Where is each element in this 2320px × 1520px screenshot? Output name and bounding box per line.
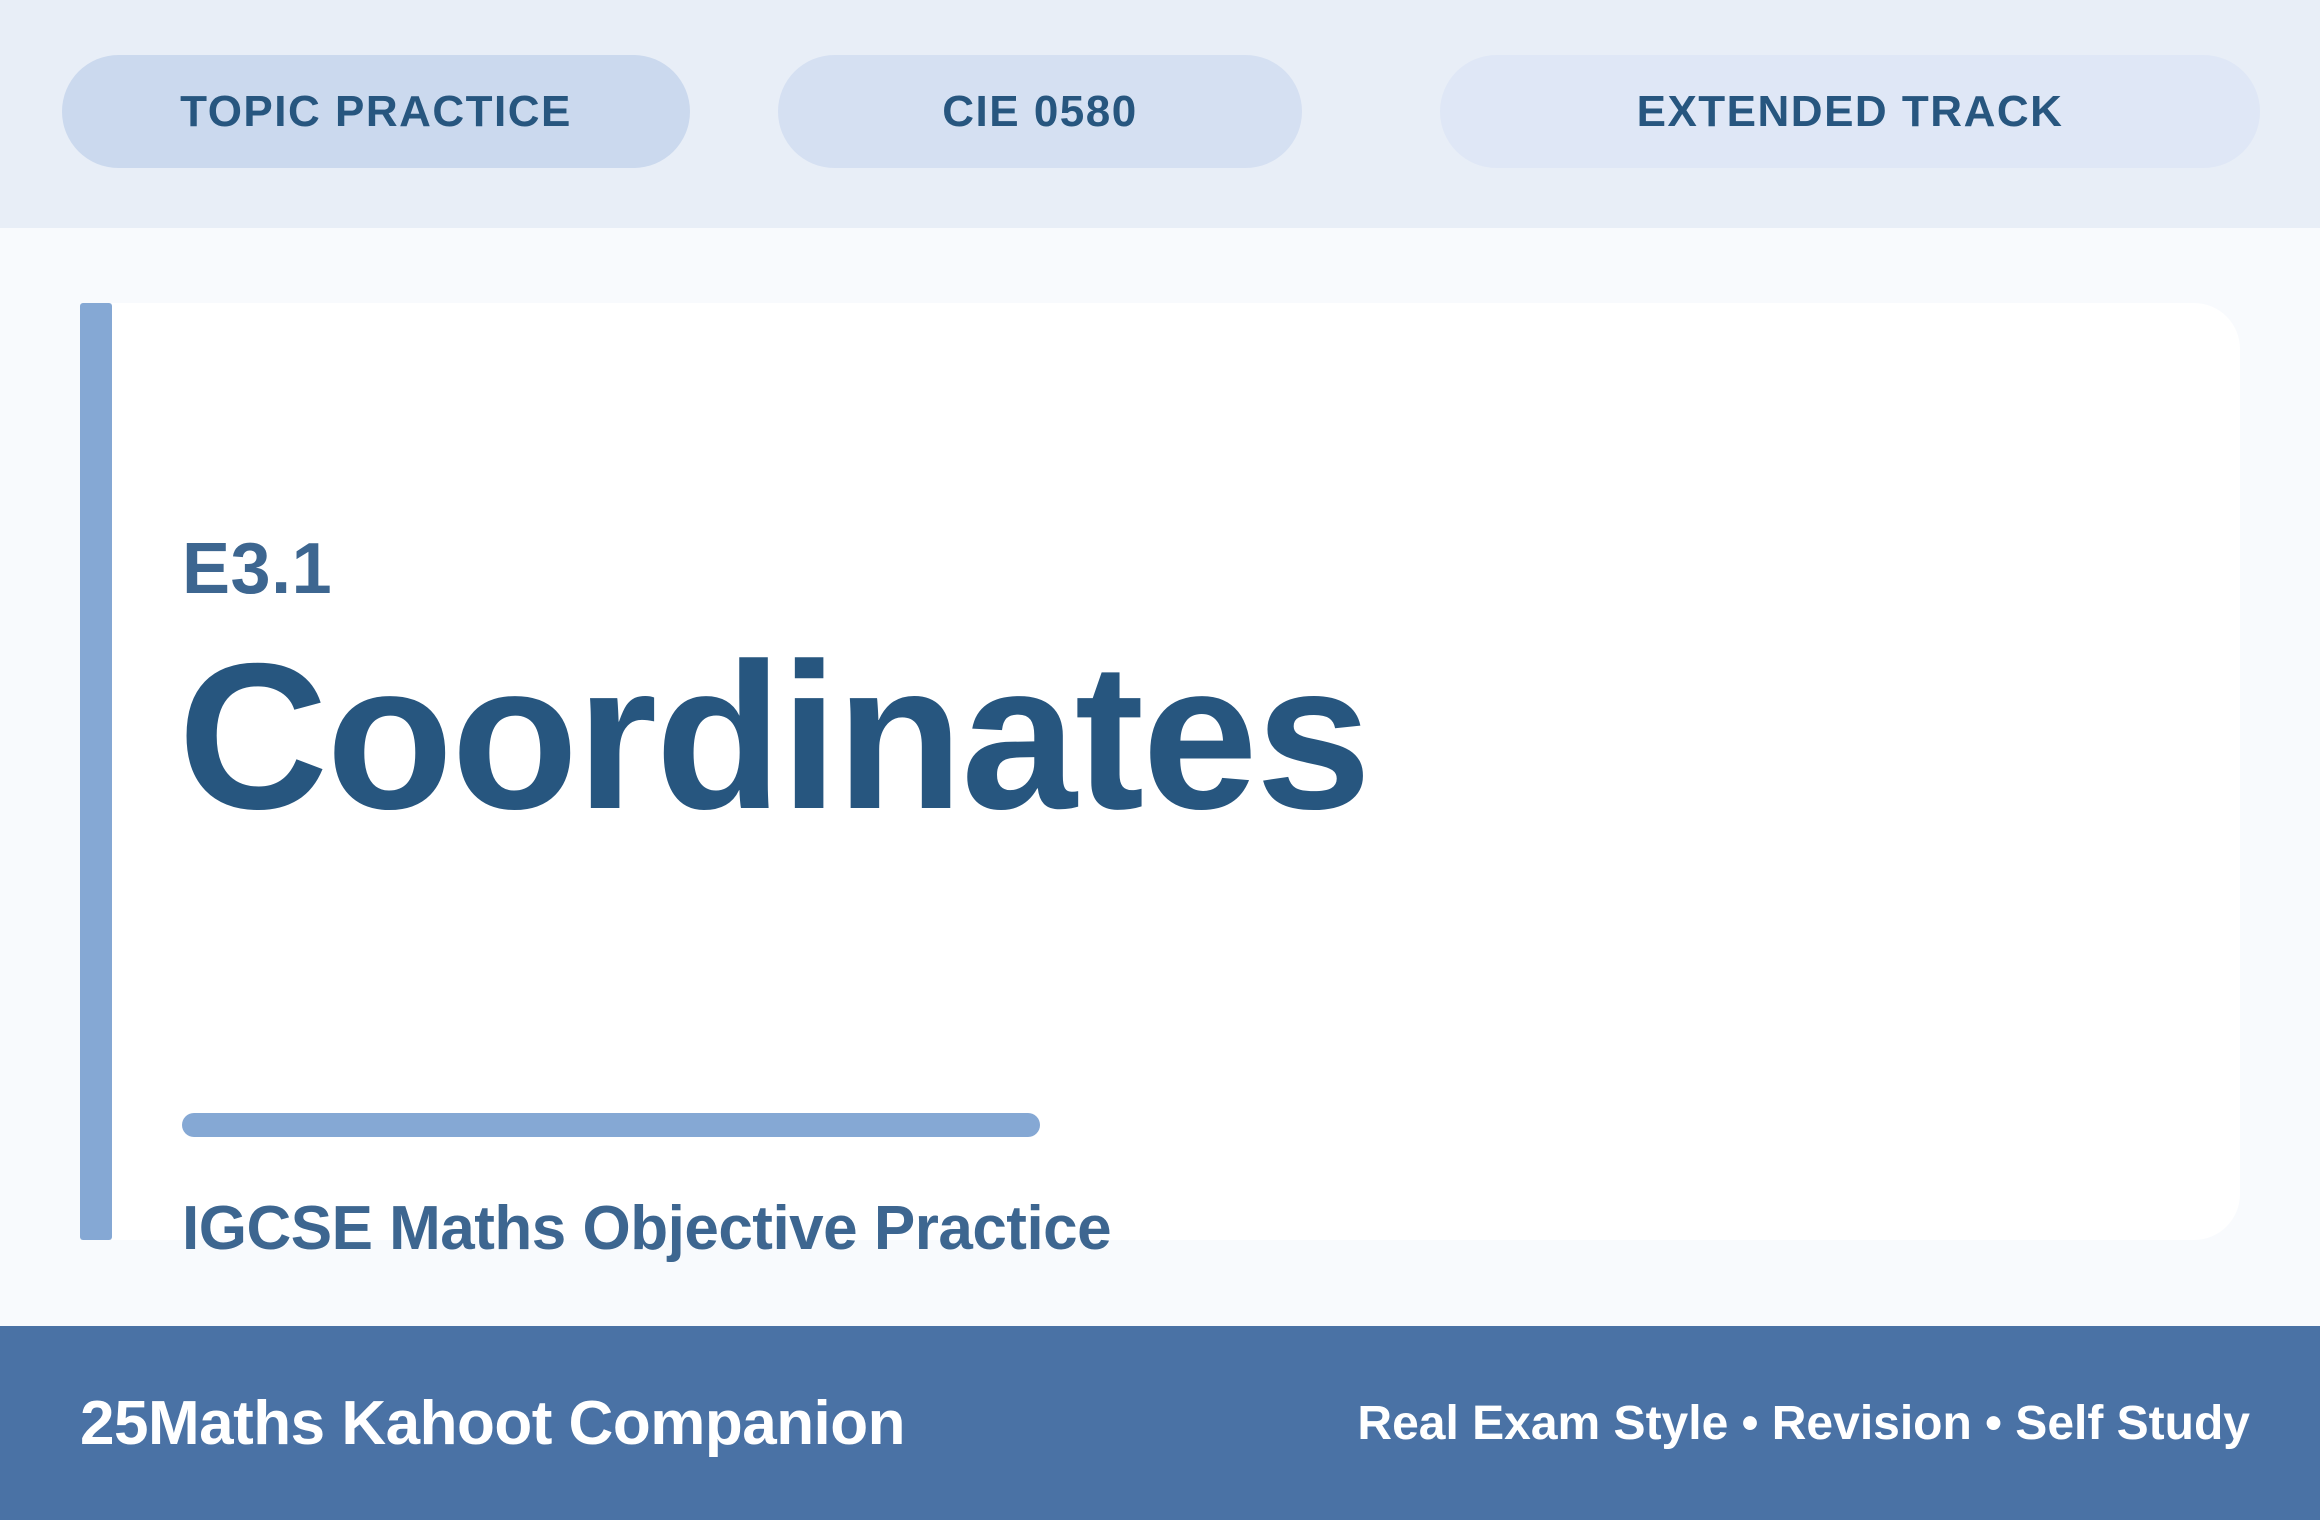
topic-code: E3.1 bbox=[182, 533, 332, 605]
title-card: E3.1 Coordinates IGCSE Maths Objective P… bbox=[112, 303, 2240, 1240]
footer-brand: 25Maths Kahoot Companion bbox=[80, 1388, 905, 1459]
title-divider bbox=[182, 1113, 1040, 1137]
footer-bar: 25Maths Kahoot Companion Real Exam Style… bbox=[0, 1326, 2320, 1520]
page-title: Coordinates bbox=[178, 633, 1369, 841]
header-band: TOPIC PRACTICE CIE 0580 EXTENDED TRACK bbox=[0, 0, 2320, 228]
slide-root: TOPIC PRACTICE CIE 0580 EXTENDED TRACK E… bbox=[0, 0, 2320, 1520]
badge-topic-practice[interactable]: TOPIC PRACTICE bbox=[62, 55, 690, 168]
badge-syllabus-code[interactable]: CIE 0580 bbox=[778, 55, 1302, 168]
badge-topic-practice-label: TOPIC PRACTICE bbox=[180, 87, 572, 137]
badge-extended-track[interactable]: EXTENDED TRACK bbox=[1440, 55, 2260, 168]
card-accent-bar bbox=[80, 303, 112, 1240]
footer-tagline: Real Exam Style • Revision • Self Study bbox=[1357, 1396, 2250, 1451]
badge-syllabus-code-label: CIE 0580 bbox=[942, 87, 1137, 137]
page-subtitle: IGCSE Maths Objective Practice bbox=[182, 1198, 1111, 1260]
card-area: E3.1 Coordinates IGCSE Maths Objective P… bbox=[0, 228, 2320, 1326]
badge-extended-track-label: EXTENDED TRACK bbox=[1637, 87, 2064, 137]
